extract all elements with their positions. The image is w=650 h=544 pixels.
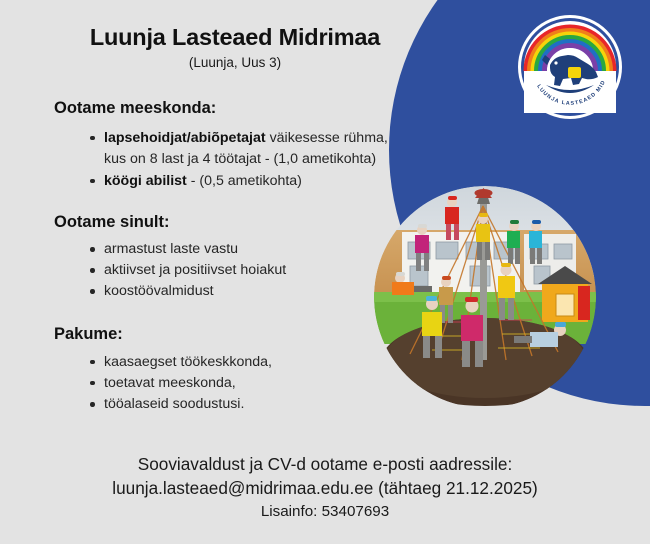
footer-line-email: luunja.lasteaed@midrimaa.edu.ee (tähtaeg… — [0, 476, 650, 500]
section-heading: Ootame sinult: — [0, 212, 400, 233]
section-list: lapsehoidjat/abiõpetajat väikesesse rühm… — [0, 128, 400, 192]
list-item: kaasaegset töökeskkonda, — [90, 352, 400, 373]
list-item-text: kaasaegset töökeskkonda, — [104, 354, 272, 370]
list-item-text: aktiivset ja positiivset hoiakut — [104, 262, 286, 278]
contact-footer: Sooviavaldust ja CV-d ootame e-posti aad… — [0, 452, 650, 522]
section-ootame-sinult: Ootame sinult: armastust laste vastu akt… — [0, 212, 400, 303]
section-list: kaasaegset töökeskkonda, toetavat meesko… — [0, 352, 400, 415]
list-item-text: koostöövalmidust — [104, 283, 214, 299]
page-subtitle: (Luunja, Uus 3) — [0, 55, 470, 70]
list-item: köögi abilist - (0,5 ametikohta) — [90, 171, 400, 192]
section-heading: Pakume: — [0, 324, 400, 345]
list-item-text: tööalaseid soodustusi. — [104, 396, 244, 412]
footer-line-intro: Sooviavaldust ja CV-d ootame e-posti aad… — [0, 452, 650, 476]
page-title: Luunja Lasteaed Midrimaa — [0, 24, 470, 51]
section-ootame-meeskonda: Ootame meeskonda: lapsehoidjat/abiõpetaj… — [0, 98, 400, 192]
list-item: koostöövalmidust — [90, 281, 400, 302]
list-item-text: armastust laste vastu — [104, 241, 238, 257]
list-item-bold: lapsehoidjat/abiõpetajat — [104, 130, 266, 146]
list-item: lapsehoidjat/abiõpetajat väikesesse rühm… — [90, 128, 400, 170]
list-item: tööalaseid soodustusi. — [90, 394, 400, 415]
section-heading: Ootame meeskonda: — [0, 98, 400, 119]
organization-logo: LUUNJA LASTEAED MIDRIMAA — [516, 13, 624, 121]
list-item: toetavat meeskonda, — [90, 373, 400, 394]
list-item: aktiivset ja positiivset hoiakut — [90, 260, 400, 281]
poster-header: Luunja Lasteaed Midrimaa (Luunja, Uus 3) — [0, 24, 470, 70]
section-pakume: Pakume: kaasaegset töökeskkonda, toetava… — [0, 324, 400, 415]
section-list: armastust laste vastu aktiivset ja posit… — [0, 239, 400, 302]
poster-body: Ootame meeskonda: lapsehoidjat/abiõpetaj… — [0, 98, 400, 415]
job-advertisement-poster: LUUNJA LASTEAED MIDRIMAA Luunja Lasteaed… — [0, 0, 650, 544]
list-item-text: toetavat meeskonda, — [104, 375, 236, 391]
footer-line-phone: Lisainfo: 53407693 — [0, 501, 650, 523]
list-item-bold: köögi abilist — [104, 173, 187, 189]
team-photo — [374, 186, 596, 408]
list-item: armastust laste vastu — [90, 239, 400, 260]
list-item-text: - (0,5 ametikohta) — [187, 173, 302, 189]
